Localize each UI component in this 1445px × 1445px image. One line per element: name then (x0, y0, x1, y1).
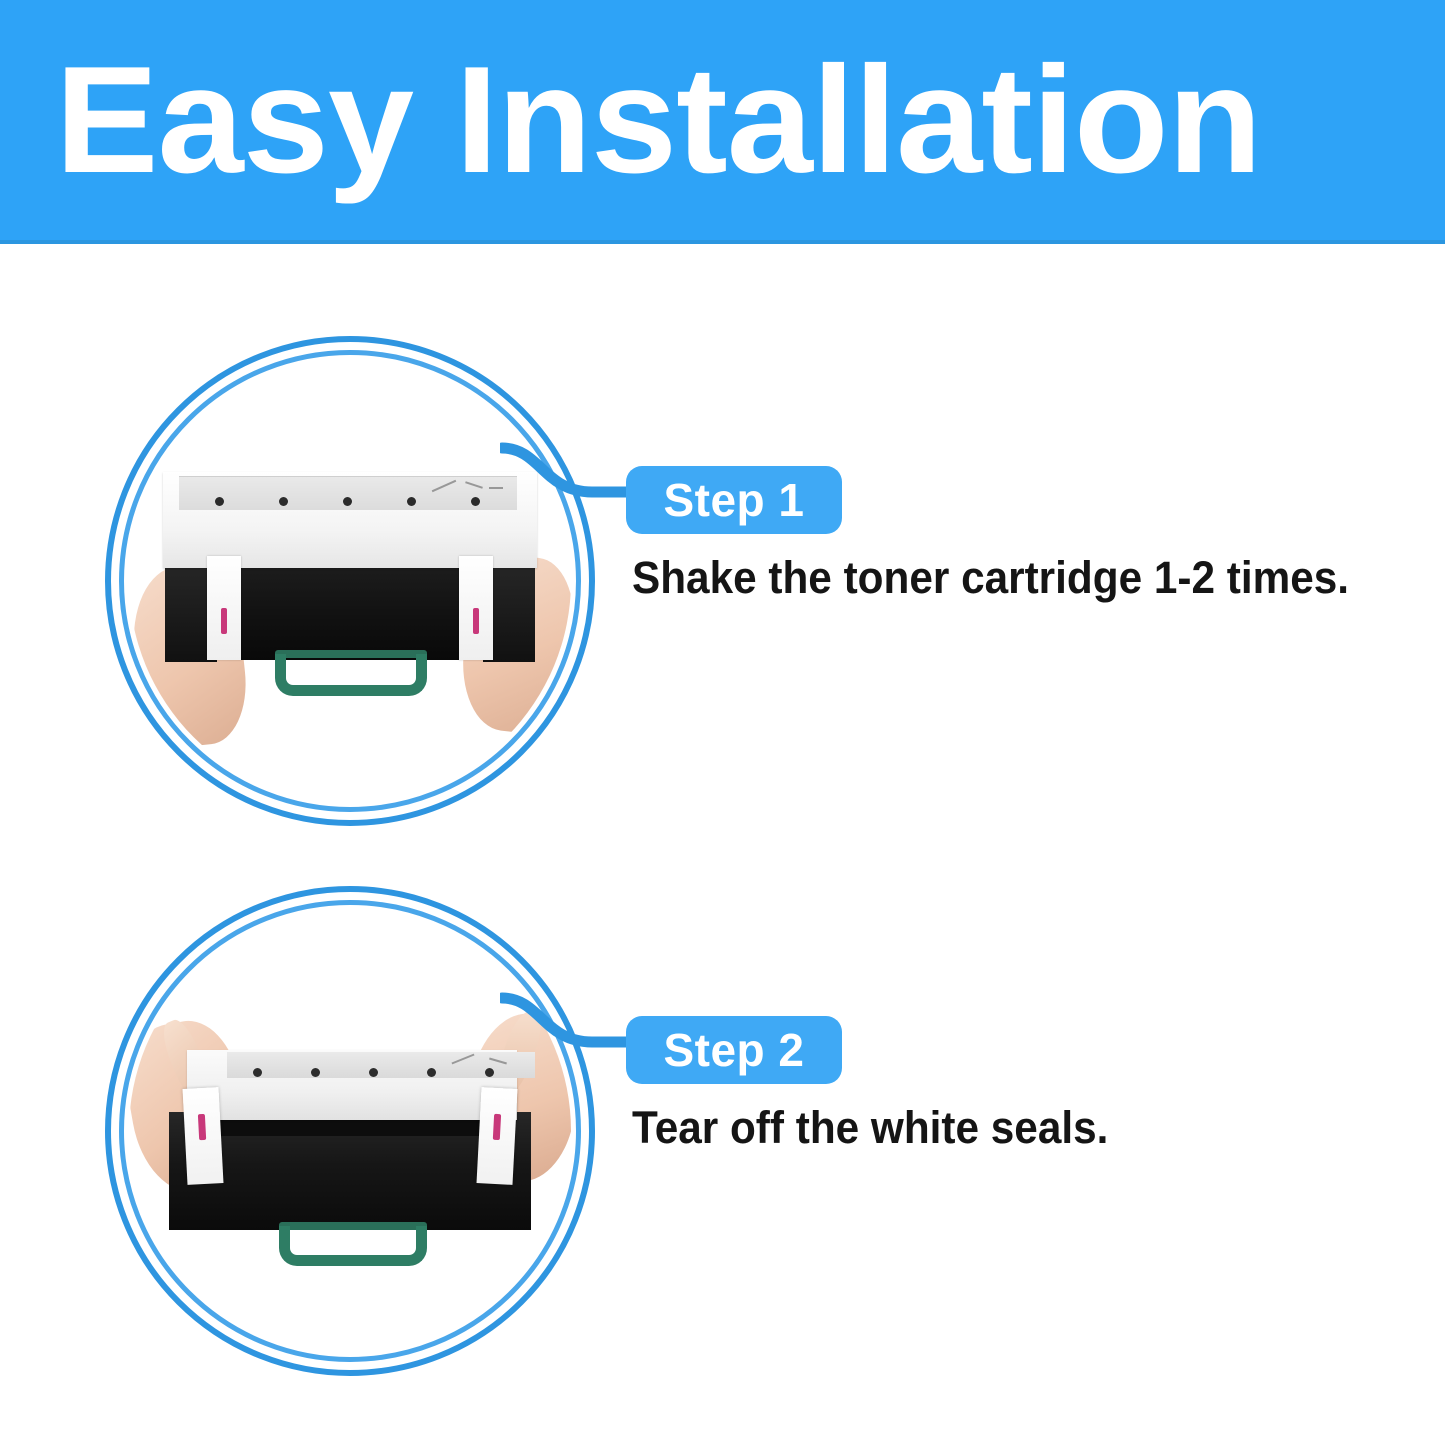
seal-tab-right (459, 556, 493, 660)
label-marker-dot (215, 497, 224, 506)
step-1-badge[interactable]: Step 1 (626, 466, 842, 534)
label-marker-dot (407, 497, 416, 506)
step-1-description: Shake the toner cartridge 1-2 times. (632, 552, 1375, 604)
step-1-badge-label: Step 1 (663, 477, 804, 523)
cartridge-drum-body (219, 564, 481, 660)
seal-tab-right-pulled (477, 1087, 518, 1185)
label-print-glyph (432, 480, 457, 492)
toner-cartridge (159, 1050, 541, 1250)
label-print-glyph (465, 481, 483, 488)
seal-tab-left (207, 556, 241, 660)
step-1-photo (129, 360, 571, 802)
seal-stripe (493, 1114, 501, 1140)
seal-tab-left-pulled (183, 1087, 224, 1185)
infographic-page: Easy Installation (0, 0, 1445, 1445)
green-handle (275, 654, 427, 696)
label-marker-dot (279, 497, 288, 506)
step-2-badge-label: Step 2 (663, 1027, 804, 1073)
label-marker-dot (343, 497, 352, 506)
label-marker-dot (427, 1068, 436, 1077)
step-2-description: Tear off the white seals. (632, 1102, 1375, 1154)
label-marker-dot (485, 1068, 494, 1077)
label-print-glyph (451, 1054, 474, 1065)
label-print-glyph (489, 1058, 507, 1065)
cartridge-top-shell (163, 472, 537, 568)
cartridge-top-shell (187, 1050, 517, 1120)
label-marker-dot (471, 497, 480, 506)
step-1-photo-frame (105, 336, 595, 826)
seal-stripe (473, 608, 479, 634)
cartridge-top-label (179, 476, 517, 510)
cartridge-top-label (227, 1052, 535, 1078)
step-2-photo (129, 910, 571, 1352)
page-title: Easy Installation (0, 44, 1261, 196)
step-2-photo-frame (105, 886, 595, 1376)
step-row-2: Step 2 Tear off the white seals. (0, 880, 1445, 1380)
green-handle (279, 1226, 427, 1266)
label-print-glyph (489, 487, 503, 489)
label-marker-dot (369, 1068, 378, 1077)
step-2-badge[interactable]: Step 2 (626, 1016, 842, 1084)
step-row-1: Step 1 Shake the toner cartridge 1-2 tim… (0, 330, 1445, 830)
seal-stripe (221, 608, 227, 634)
seal-stripe (198, 1114, 206, 1140)
header-banner: Easy Installation (0, 0, 1445, 244)
toner-cartridge (163, 472, 537, 672)
label-marker-dot (311, 1068, 320, 1077)
label-marker-dot (253, 1068, 262, 1077)
